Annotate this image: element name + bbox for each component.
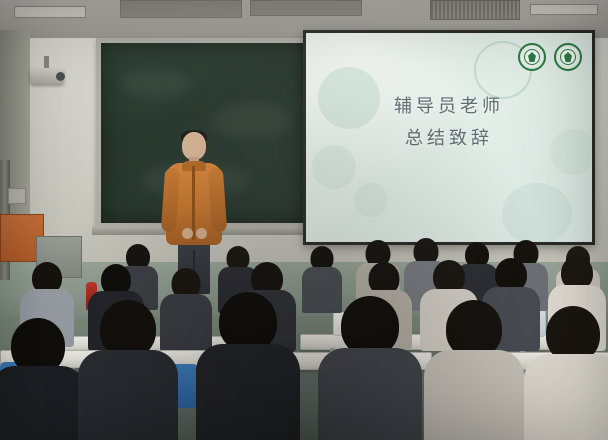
list-item (78, 300, 178, 440)
projection-screen: 辅导员老师 总结致辞 (303, 30, 595, 245)
university-emblem-left (518, 43, 546, 71)
slide-title: 辅导员老师 总结致辞 (306, 91, 592, 155)
slide-decoration-blob (354, 183, 388, 217)
ceiling-panel (250, 0, 362, 16)
student-head (219, 292, 277, 352)
student-torso (424, 350, 524, 440)
list-item (0, 318, 86, 440)
ceiling-panel (120, 0, 242, 18)
projector-lens-icon (56, 72, 65, 81)
speaker-hand-left (182, 228, 193, 239)
slide-title-line-2: 总结致辞 (306, 123, 592, 155)
wall-outlet (8, 188, 26, 204)
list-item (318, 296, 422, 440)
ceiling-vent (430, 0, 520, 20)
student-torso (318, 348, 422, 440)
slide-decoration-blob (502, 183, 572, 242)
student-torso (0, 366, 86, 440)
list-item (524, 306, 608, 440)
student-torso (196, 344, 300, 440)
student-torso (78, 350, 178, 440)
ceiling-light (14, 6, 86, 18)
speaker-head (182, 132, 206, 160)
student-head (341, 296, 399, 356)
speaker-hand-right (196, 228, 207, 239)
speaker-arm-right (208, 168, 227, 233)
classroom-photo: 辅导员老师 总结致辞 (0, 0, 608, 440)
slide-title-line-1: 辅导员老师 (306, 91, 592, 123)
list-item (424, 300, 524, 440)
ceiling-light (530, 4, 598, 15)
slide: 辅导员老师 总结致辞 (306, 33, 592, 242)
university-emblem-right (554, 43, 582, 71)
student-torso (524, 354, 608, 440)
list-item (196, 292, 300, 440)
